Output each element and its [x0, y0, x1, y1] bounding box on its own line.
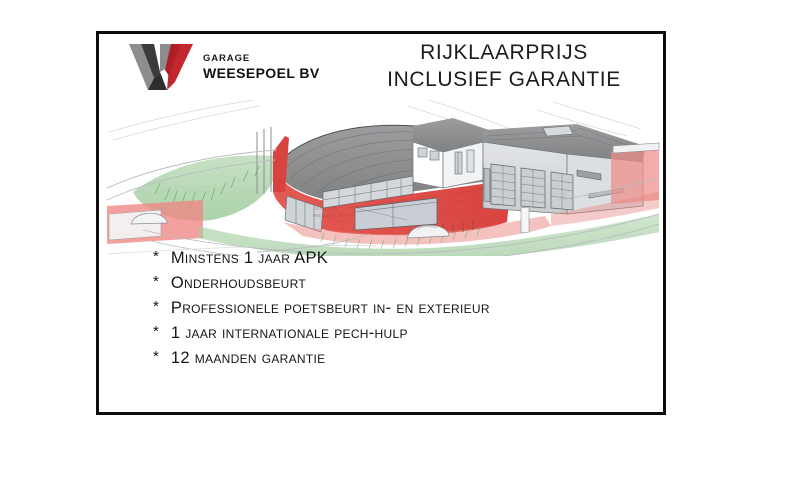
side-door: [484, 168, 490, 202]
poster-header: GARAGE WEESEPOEL BV RIJKLAARPRIJS INCLUS…: [99, 34, 663, 100]
page-title: RIJKLAARPRIJS INCLUSIEF GARANTIE: [349, 40, 659, 94]
bullet-char: *: [153, 246, 166, 269]
bullet-char: *: [153, 346, 166, 369]
brand-logo-block: GARAGE WEESEPOEL BV: [127, 40, 342, 96]
building-illustration: GARAGE WEESEPOEL: [107, 96, 661, 256]
brand-logo-line2: WEESEPOEL BV: [203, 66, 320, 80]
list-item: * Onderhoudsbeurt: [153, 271, 653, 296]
red-pylon: [273, 136, 289, 192]
benefit-label: 12 maanden garantie: [171, 346, 326, 371]
entrance-pillar: [521, 207, 529, 233]
list-item: * Minstens 1 jaar APK: [153, 246, 653, 271]
list-item: * 1 jaar internationale pech-hulp: [153, 321, 653, 346]
weesepoel-double-chevron-logo-icon: [127, 42, 199, 92]
roof-vent: [543, 126, 573, 136]
poster-frame: GARAGE WEESEPOEL BV RIJKLAARPRIJS INCLUS…: [96, 31, 666, 415]
brand-logo-line1: GARAGE: [203, 54, 320, 64]
bullet-char: *: [153, 296, 166, 319]
benefits-list: * Minstens 1 jaar APK * Onderhoudsbeurt …: [153, 246, 653, 371]
brand-logo-text: GARAGE WEESEPOEL BV: [203, 54, 320, 80]
svg-text:WEESEPOEL: WEESEPOEL: [313, 213, 348, 218]
benefit-label: Onderhoudsbeurt: [171, 271, 306, 296]
list-item: * 12 maanden garantie: [153, 346, 653, 371]
page-title-line1: RIJKLAARPRIJS: [420, 41, 588, 64]
benefit-label: 1 jaar internationale pech-hulp: [171, 321, 408, 346]
bullet-char: *: [153, 321, 166, 344]
bullet-char: *: [153, 271, 166, 294]
page-title-line2: INCLUSIEF GARANTIE: [349, 67, 659, 94]
list-item: * Professionele poetsbeurt in- en exteri…: [153, 296, 653, 321]
slide-canvas: GARAGE WEESEPOEL BV RIJKLAARPRIJS INCLUS…: [0, 0, 793, 480]
benefit-label: Professionele poetsbeurt in- en exterieu…: [171, 296, 490, 321]
benefit-label: Minstens 1 jaar APK: [171, 246, 328, 271]
